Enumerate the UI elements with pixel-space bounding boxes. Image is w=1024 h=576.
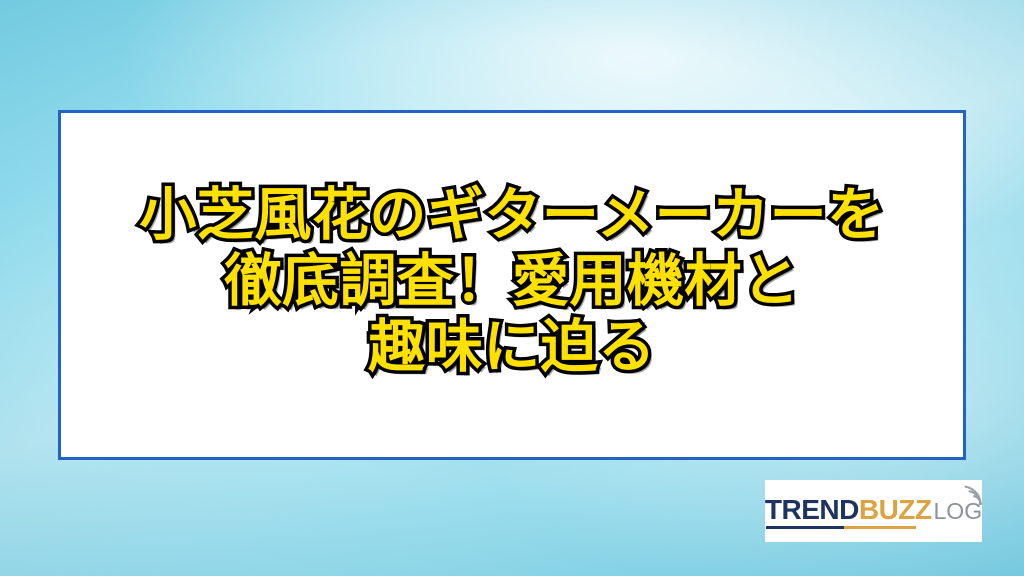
logo-text-buzz: BUZZ bbox=[859, 496, 932, 524]
headline-line-3: 趣味に迫る bbox=[368, 314, 656, 380]
logo-wordmark: TREND BUZZ LOG bbox=[765, 496, 982, 524]
headline-line-1: 小芝風花のギターメーカーを bbox=[139, 182, 884, 248]
headline-line-2: 徹底調査！愛用機材と bbox=[225, 248, 800, 314]
thumbnail-canvas: 小芝風花のギターメーカーを 徹底調査！愛用機材と 趣味に迫る TREND BUZ… bbox=[0, 0, 1024, 576]
title-card: 小芝風花のギターメーカーを 徹底調査！愛用機材と 趣味に迫る bbox=[58, 110, 966, 460]
wifi-signal-icon bbox=[958, 482, 984, 506]
logo-plate[interactable]: TREND BUZZ LOG bbox=[765, 480, 982, 542]
wifi-signal-dot bbox=[979, 502, 982, 505]
logo-text-trend: TREND bbox=[765, 496, 859, 524]
logo-inner: TREND BUZZ LOG bbox=[765, 496, 982, 524]
logo-underline-bar bbox=[766, 526, 916, 529]
